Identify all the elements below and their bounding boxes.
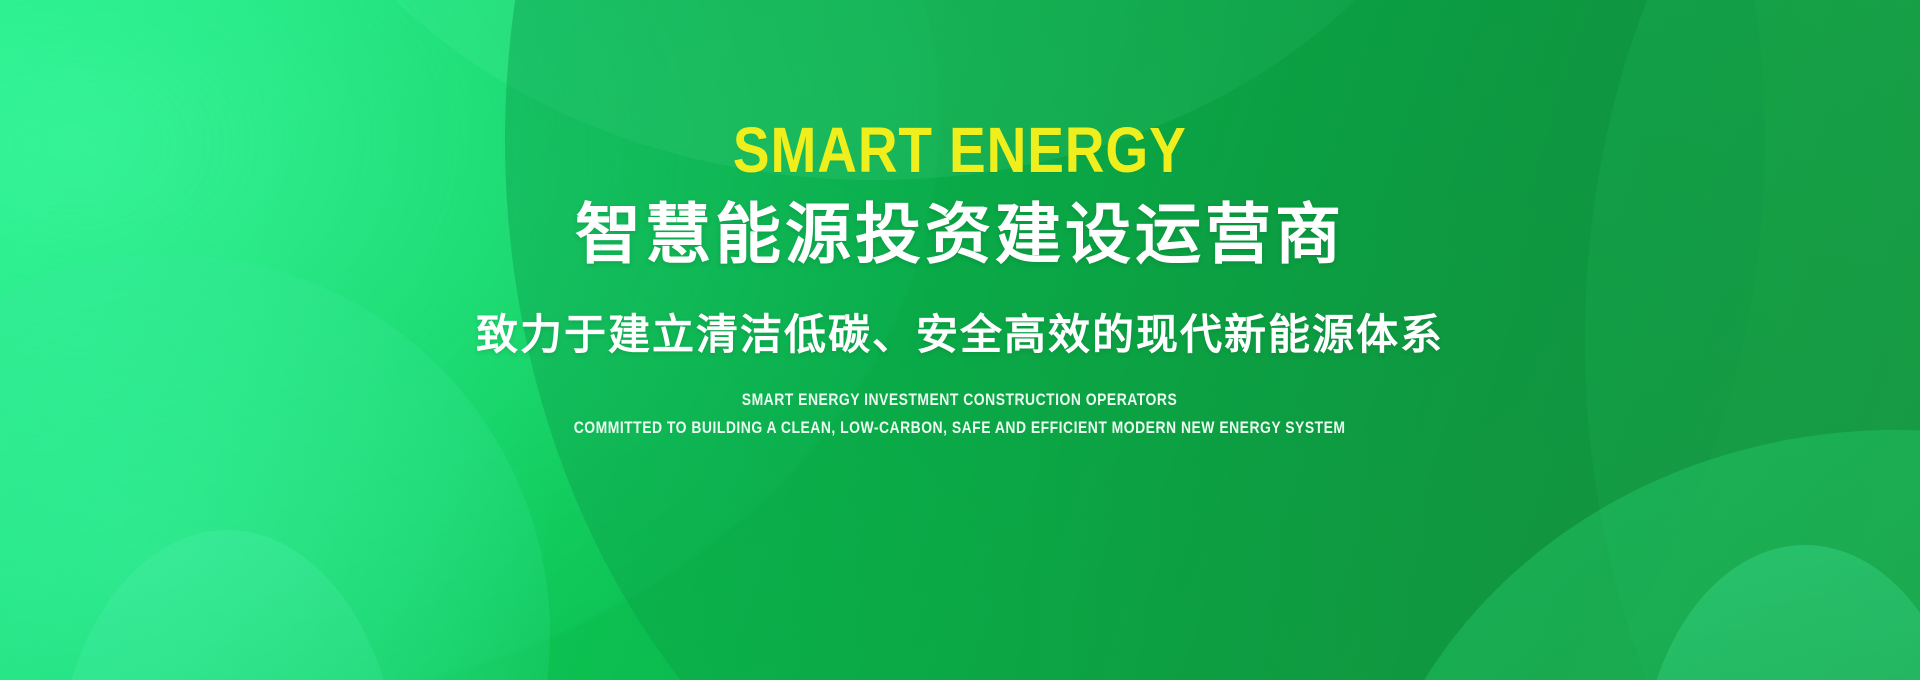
headline-english: SMART ENERGY — [733, 118, 1187, 182]
headline-chinese: 智慧能源投资建设运营商 — [575, 198, 1345, 272]
tagline-english-primary: SMART ENERGY INVESTMENT CONSTRUCTION OPE… — [742, 390, 1177, 410]
banner-content: SMART ENERGY 智慧能源投资建设运营商 致力于建立清洁低碳、安全高效的… — [0, 0, 1920, 680]
tagline-english-secondary: COMMITTED TO BUILDING A CLEAN, LOW-CARBO… — [574, 418, 1346, 438]
smart-energy-hero-banner: SMART ENERGY 智慧能源投资建设运营商 致力于建立清洁低碳、安全高效的… — [0, 0, 1920, 680]
subheadline-chinese: 致力于建立清洁低碳、安全高效的现代新能源体系 — [476, 310, 1444, 360]
